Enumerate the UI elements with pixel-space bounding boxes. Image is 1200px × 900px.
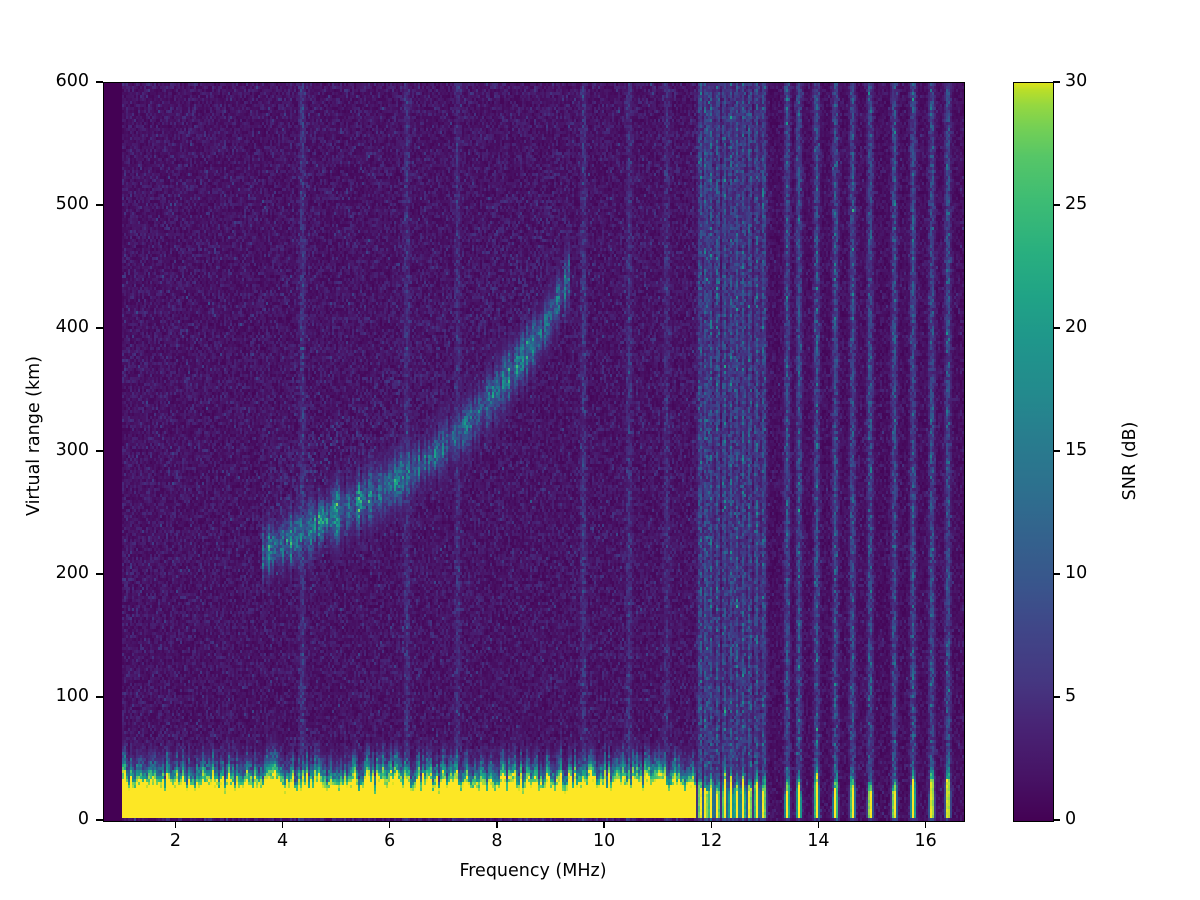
ionogram-plot-area: [103, 82, 965, 822]
x-axis-label: Frequency (MHz): [103, 861, 963, 881]
y-tick-mark: [96, 819, 103, 820]
snr-colorbar: [1013, 82, 1054, 822]
x-tick-label: 8: [471, 831, 523, 851]
y-tick-label: 500: [56, 194, 89, 214]
colorbar-tick-mark: [1053, 204, 1060, 205]
x-tick-label: 6: [364, 831, 416, 851]
x-tick-mark: [818, 821, 819, 828]
y-tick-mark: [96, 327, 103, 328]
colorbar-tick-mark: [1053, 696, 1060, 697]
colorbar-tick-mark: [1053, 573, 1060, 574]
colorbar-tick-mark: [1053, 327, 1060, 328]
x-tick-label: 10: [578, 831, 630, 851]
y-tick-label: 100: [56, 686, 89, 706]
y-tick-mark: [96, 81, 103, 82]
colorbar-tick-mark: [1053, 819, 1060, 820]
y-tick-label: 600: [56, 71, 89, 91]
ionogram-figure: IRF Kiruna Ionosonde KI167 2025-09-21 10…: [0, 0, 1200, 900]
colorbar-tick-label: 10: [1065, 563, 1087, 583]
y-axis-label: Virtual range (km): [24, 306, 44, 566]
colorbar-tick-label: 25: [1065, 194, 1087, 214]
x-tick-label: 14: [792, 831, 844, 851]
x-tick-mark: [282, 821, 283, 828]
colorbar-tick-label: 15: [1065, 440, 1087, 460]
x-tick-label: 2: [149, 831, 201, 851]
y-tick-label: 200: [56, 563, 89, 583]
y-tick-label: 400: [56, 317, 89, 337]
colorbar-tick-label: 0: [1065, 809, 1076, 829]
x-tick-mark: [925, 821, 926, 828]
x-tick-label: 12: [685, 831, 737, 851]
y-tick-label: 300: [56, 440, 89, 460]
y-tick-mark: [96, 696, 103, 697]
x-tick-mark: [603, 821, 604, 828]
colorbar-label: SNR (dB): [1120, 331, 1140, 591]
y-tick-mark: [96, 204, 103, 205]
x-tick-mark: [175, 821, 176, 828]
y-tick-mark: [96, 450, 103, 451]
ionogram-heatmap: [104, 83, 964, 821]
x-tick-label: 16: [900, 831, 952, 851]
colorbar-tick-mark: [1053, 450, 1060, 451]
x-tick-mark: [389, 821, 390, 828]
colorbar-tick-label: 20: [1065, 317, 1087, 337]
colorbar-tick-mark: [1053, 81, 1060, 82]
y-tick-mark: [96, 573, 103, 574]
x-tick-mark: [711, 821, 712, 828]
x-tick-label: 4: [257, 831, 309, 851]
colorbar-tick-label: 30: [1065, 71, 1087, 91]
y-tick-label: 0: [78, 809, 89, 829]
x-tick-mark: [496, 821, 497, 828]
colorbar-tick-label: 5: [1065, 686, 1076, 706]
